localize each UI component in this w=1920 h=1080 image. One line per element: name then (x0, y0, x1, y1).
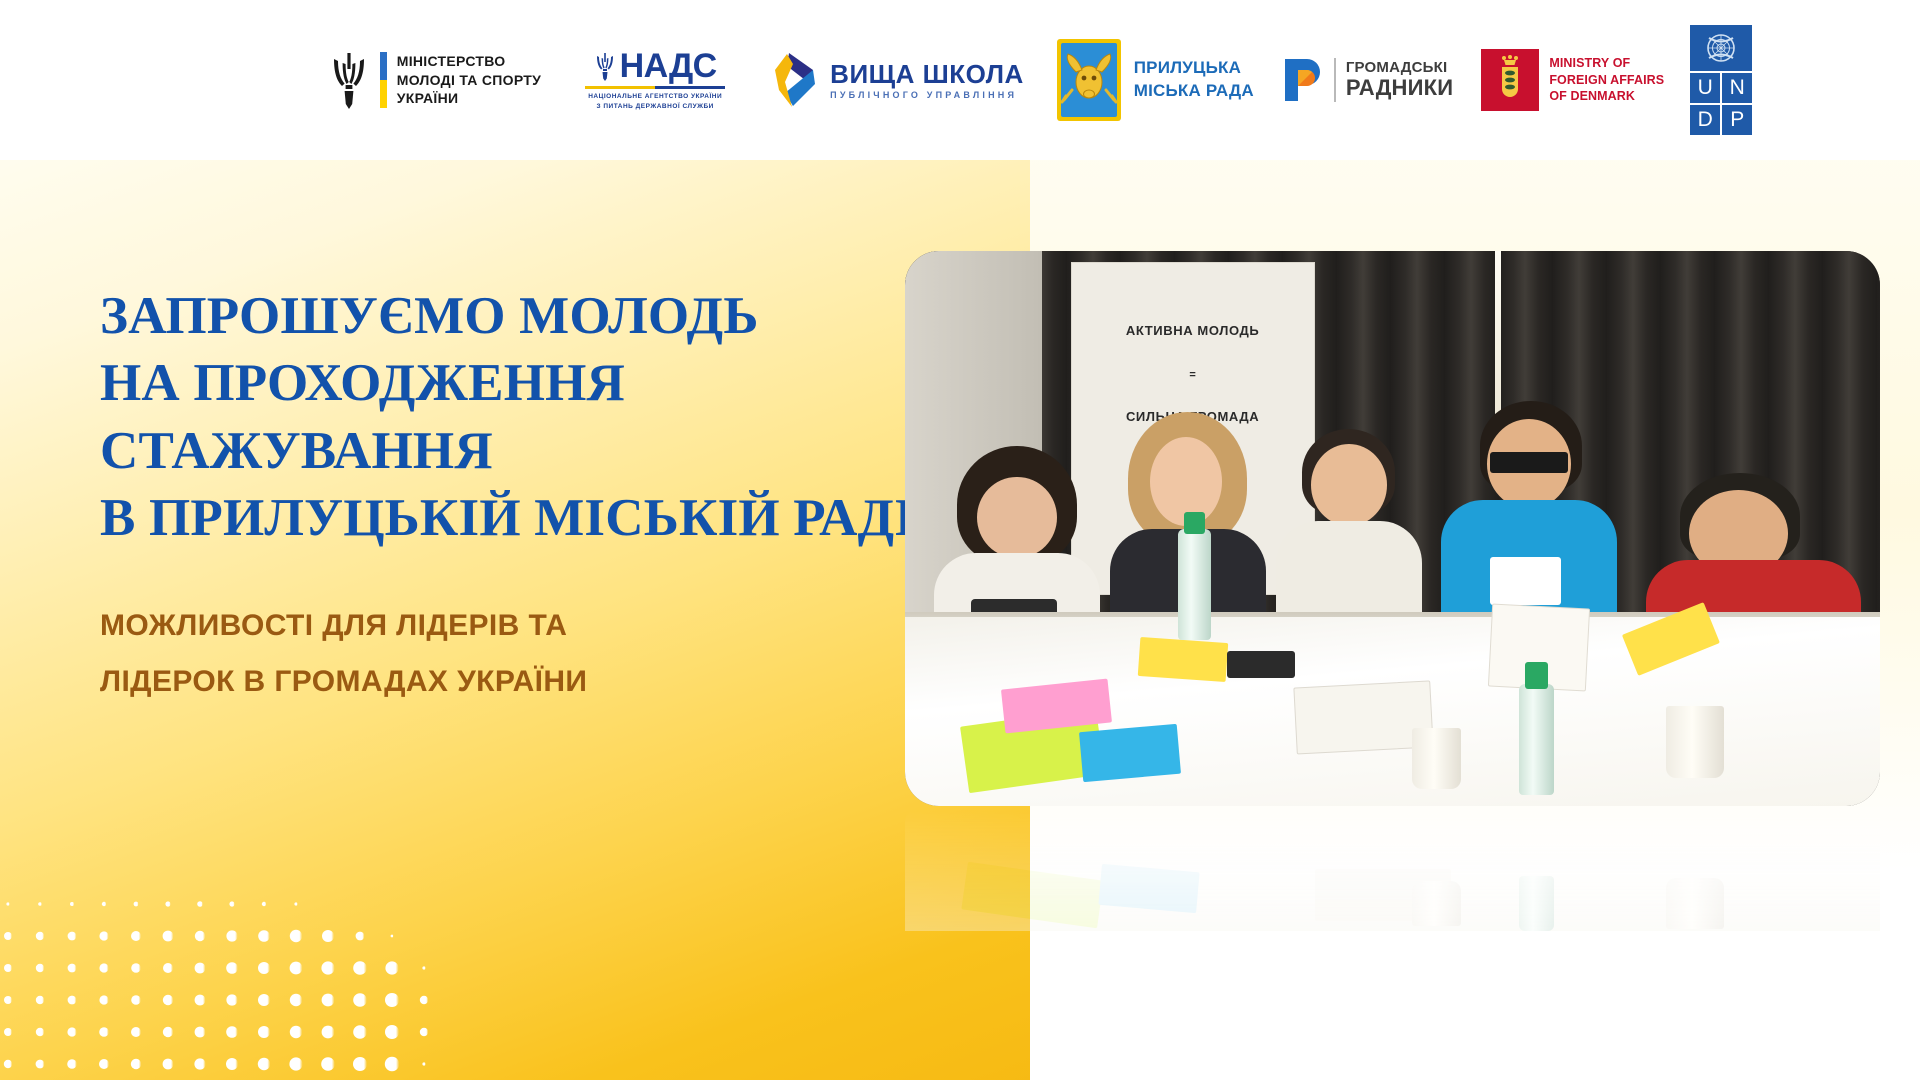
photo-cup-2 (1666, 706, 1725, 778)
photo-reflection (905, 811, 1880, 931)
nads-tryzub-icon (594, 51, 616, 81)
nads-rule-divider (585, 86, 725, 89)
logo-vyshcha-shkola-text: ВИЩА ШКОЛА ПУБЛІЧНОГО УПРАВЛІННЯ (830, 61, 1024, 100)
poster-canvas: ЗАПРОШУЄМО МОЛОДЬ НА ПРОХОДЖЕННЯ СТАЖУВА… (0, 133, 1920, 1080)
headline-line-4: В ПРИЛУЦЬКІЙ МІСЬКІЙ РАДІ (100, 485, 1040, 552)
hr-line-2: РАДНИКИ (1346, 76, 1453, 100)
photo-bottle-cap-2 (1525, 662, 1548, 690)
pryluky-coat-of-arms-icon (1056, 38, 1122, 122)
pmr-line-2: МІСЬКА РАДА (1134, 80, 1254, 103)
photo-water-bottle-1 (1178, 529, 1211, 640)
logo-undp: U N D P (1690, 25, 1752, 135)
headline-line-1: ЗАПРОШУЄМО МОЛОДЬ (100, 283, 1040, 350)
photo-scene: АКТИВНА МОЛОДЬ = СИЛЬНА ГРОМАДА (905, 251, 1880, 806)
vyshcha-shkola-wordmark: ВИЩА ШКОЛА (830, 61, 1024, 87)
logo-hromadski-radnyky: ГРОМАДСЬКІ РАДНИКИ (1282, 56, 1453, 104)
photo-reflection-scene (905, 811, 1880, 931)
mys-line-3: УКРАЇНИ (397, 89, 541, 107)
headline-line-2: НА ПРОХОДЖЕННЯ (100, 350, 1040, 417)
logo-ministry-of-foreign-affairs-of-denmark: MINISTRY OF FOREIGN AFFAIRS OF DENMARK (1481, 49, 1664, 111)
partner-logo-bar: МІНІСТЕРСТВО МОЛОДІ ТА СПОРТУ УКРАЇНИ (0, 0, 1920, 160)
photo-phone (1227, 651, 1295, 679)
logo-pryluky-city-council-text: ПРИЛУЦЬКА МІСЬКА РАДА (1134, 57, 1254, 103)
nads-wordmark-row: НАДС (594, 49, 717, 83)
mys-line-2: МОЛОДІ ТА СПОРТУ (397, 71, 541, 89)
nads-subtitle: НАЦІОНАЛЬНЕ АГЕНТСТВО УКРАЇНИ З ПИТАНЬ Д… (588, 92, 722, 111)
headline-line-3: СТАЖУВАННЯ (100, 418, 1040, 485)
hr-divider (1334, 58, 1336, 102)
undp-letter-p: P (1722, 105, 1752, 135)
dk-line-3: OF DENMARK (1549, 88, 1664, 105)
dk-line-2: FOREIGN AFFAIRS (1549, 72, 1664, 89)
poster-equals: = (1091, 369, 1294, 381)
logo-ministry-of-youth-and-sport: МІНІСТЕРСТВО МОЛОДІ ТА СПОРТУ УКРАЇНИ (328, 49, 541, 111)
workshop-photo: АКТИВНА МОЛОДЬ = СИЛЬНА ГРОМАДА (905, 251, 1880, 806)
logo-nads: НАДС НАЦІОНАЛЬНЕ АГЕНТСТВО УКРАЇНИ З ПИТ… (585, 49, 725, 111)
photo-bottle-cap-1 (1184, 512, 1205, 534)
nads-sub-line-2: З ПИТАНЬ ДЕРЖАВНОЇ СЛУЖБИ (588, 102, 722, 111)
page-title: ЗАПРОШУЄМО МОЛОДЬ НА ПРОХОДЖЕННЯ СТАЖУВА… (100, 283, 1040, 552)
dk-line-1: MINISTRY OF (1549, 55, 1664, 72)
subheadline-line-2: ЛІДЕРОК В ГРОМАДАХ УКРАЇНИ (100, 654, 880, 710)
logo-ministry-of-youth-and-sport-text: МІНІСТЕРСТВО МОЛОДІ ТА СПОРТУ УКРАЇНИ (397, 52, 541, 107)
p-mark-icon (1282, 56, 1324, 104)
photo-cup-1 (1412, 728, 1461, 789)
nads-wordmark: НАДС (620, 49, 717, 83)
hr-line-1: ГРОМАДСЬКІ (1346, 60, 1453, 77)
mys-line-1: МІНІСТЕРСТВО (397, 52, 541, 70)
logo-vyshcha-shkola: ВИЩА ШКОЛА ПУБЛІЧНОГО УПРАВЛІННЯ (765, 50, 1024, 110)
undp-letter-d: D (1690, 105, 1720, 135)
ukraine-tryzub-icon (328, 49, 370, 111)
subheadline-line-1: МОЖЛИВОСТІ ДЛЯ ЛІДЕРІВ ТА (100, 598, 880, 654)
logo-denmark-text: MINISTRY OF FOREIGN AFFAIRS OF DENMARK (1549, 55, 1664, 106)
photo-water-bottle-2 (1519, 684, 1554, 795)
poster-line-1: АКТИВНА МОЛОДЬ (1091, 323, 1294, 338)
flag-bar-divider (380, 52, 387, 108)
chevron-mark-icon (765, 50, 821, 110)
pmr-line-1: ПРИЛУЦЬКА (1134, 57, 1254, 80)
un-emblem-icon (1690, 25, 1752, 71)
photo-sticky-note-blue (1079, 724, 1180, 782)
photo-block: АКТИВНА МОЛОДЬ = СИЛЬНА ГРОМАДА (905, 251, 1880, 931)
denmark-crest-icon (1481, 49, 1539, 111)
page-subtitle: МОЖЛИВОСТІ ДЛЯ ЛІДЕРІВ ТА ЛІДЕРОК В ГРОМ… (100, 598, 880, 709)
nads-sub-line-1: НАЦІОНАЛЬНЕ АГЕНТСТВО УКРАЇНИ (588, 92, 722, 101)
dot-grid-decoration (0, 875, 470, 1080)
undp-letter-n: N (1722, 73, 1752, 103)
undp-grid: U N D P (1690, 25, 1752, 135)
logo-pryluky-city-council: ПРИЛУЦЬКА МІСЬКА РАДА (1056, 38, 1254, 122)
undp-letter-u: U (1690, 73, 1720, 103)
photo-sticky-note-yellow (1138, 636, 1228, 681)
logo-hromadski-radnyky-text: ГРОМАДСЬКІ РАДНИКИ (1346, 60, 1453, 101)
vyshcha-shkola-subtitle: ПУБЛІЧНОГО УПРАВЛІННЯ (830, 91, 1024, 100)
